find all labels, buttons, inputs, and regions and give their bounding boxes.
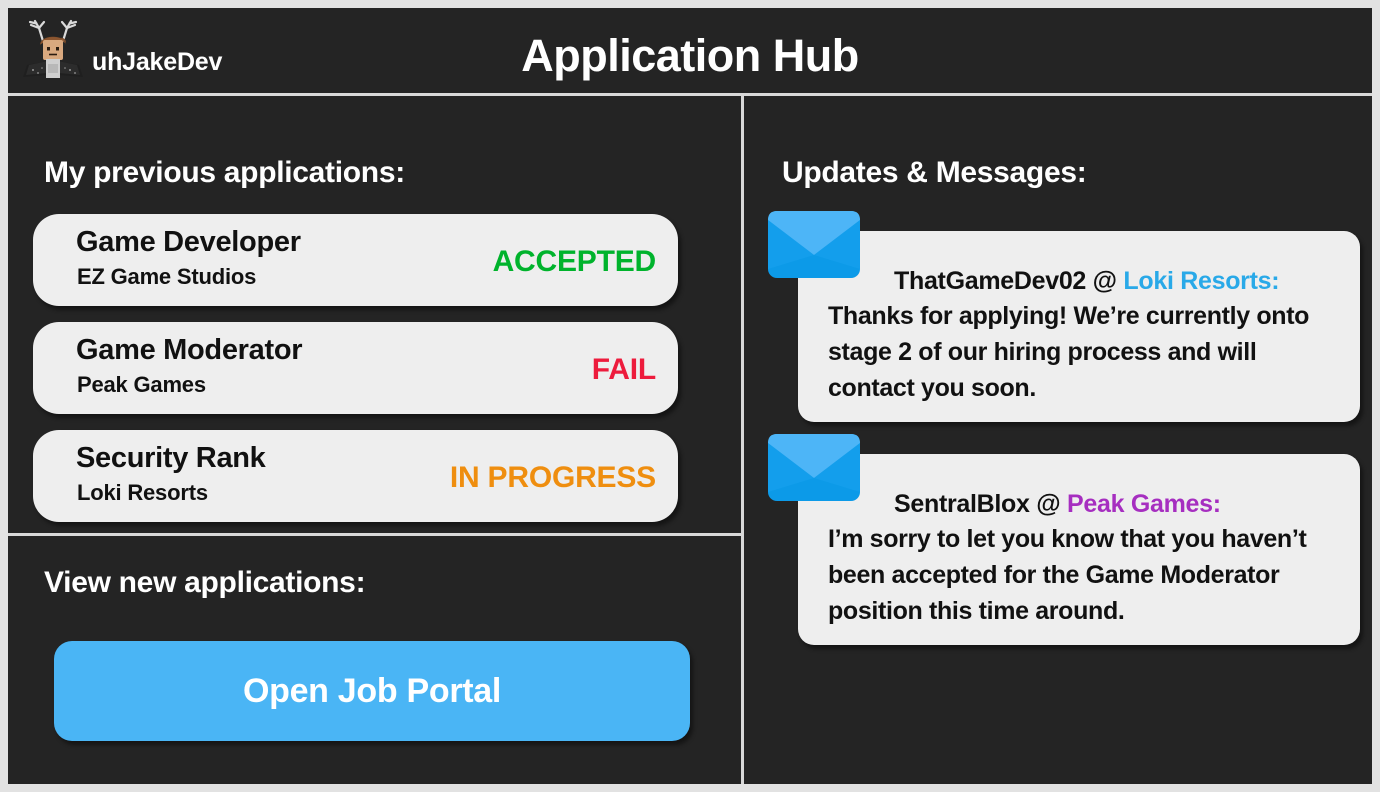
- message-header: SentralBlox @ Peak Games:: [894, 490, 1342, 519]
- application-company: Loki Resorts: [77, 480, 208, 506]
- envelope-icon: [768, 434, 860, 501]
- application-company: Peak Games: [77, 372, 206, 398]
- status-badge: IN PROGRESS: [450, 461, 656, 495]
- message-separator: @: [1086, 267, 1123, 295]
- new-applications-heading: View new applications:: [44, 566, 365, 600]
- status-badge: FAIL: [592, 353, 656, 387]
- message-sender: SentralBlox: [894, 490, 1030, 518]
- application-hub-window: uhJakeDev Application Hub My previous ap…: [8, 8, 1372, 784]
- message-header: ThatGameDev02 @ Loki Resorts:: [894, 267, 1342, 296]
- status-badge: ACCEPTED: [493, 245, 656, 279]
- application-role: Security Rank: [76, 442, 266, 475]
- updates-messages-heading: Updates & Messages:: [782, 156, 1086, 190]
- open-job-portal-button[interactable]: Open Job Portal: [54, 641, 690, 741]
- message-separator: @: [1030, 490, 1067, 518]
- previous-applications-heading: My previous applications:: [44, 156, 405, 190]
- message-card: SentralBlox @ Peak Games: I’m sorry to l…: [798, 454, 1360, 645]
- message-body: I’m sorry to let you know that you haven…: [828, 521, 1342, 629]
- right-panel: Updates & Messages: ThatGameDev02 @ Loki…: [744, 96, 1372, 784]
- application-row[interactable]: Game Developer EZ Game Studios ACCEPTED: [33, 214, 678, 306]
- left-panel: My previous applications: Game Developer…: [8, 96, 741, 784]
- message-organization: Loki Resorts:: [1123, 267, 1279, 295]
- application-role: Game Moderator: [76, 334, 302, 367]
- application-company: EZ Game Studios: [77, 264, 256, 290]
- application-role: Game Developer: [76, 226, 301, 259]
- application-row[interactable]: Security Rank Loki Resorts IN PROGRESS: [33, 430, 678, 522]
- page-title: Application Hub: [8, 30, 1372, 82]
- header-bar: uhJakeDev Application Hub: [8, 8, 1372, 93]
- message-organization: Peak Games:: [1067, 490, 1221, 518]
- application-row[interactable]: Game Moderator Peak Games FAIL: [33, 322, 678, 414]
- envelope-icon: [768, 211, 860, 278]
- message-body: Thanks for applying! We’re currently ont…: [828, 298, 1342, 406]
- message-sender: ThatGameDev02: [894, 267, 1086, 295]
- message-card: ThatGameDev02 @ Loki Resorts: Thanks for…: [798, 231, 1360, 422]
